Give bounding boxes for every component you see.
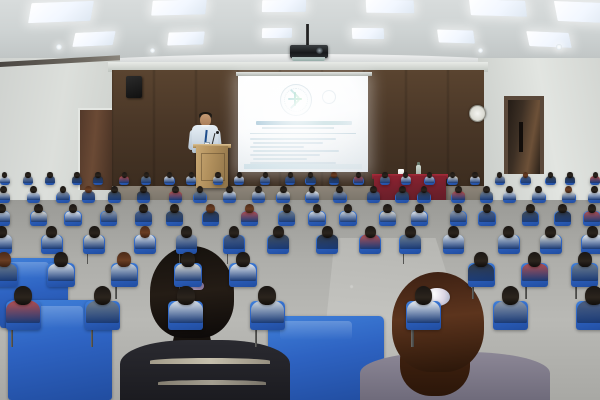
projector-lens-icon — [316, 47, 323, 54]
audience-person-head — [313, 204, 322, 213]
foreground-person-left-trim-lower — [158, 380, 266, 385]
chair-leg — [87, 254, 88, 264]
panel-light-2 — [151, 0, 207, 16]
audience-person-head — [85, 186, 92, 193]
audience-person-head — [545, 226, 556, 238]
downlight-2 — [150, 48, 155, 53]
audience-person-head — [172, 186, 179, 193]
audience-person-head — [122, 172, 127, 178]
audience-person-head — [189, 172, 194, 178]
audience-person-head — [365, 226, 376, 238]
audience-person-head — [140, 186, 147, 193]
audience-person-head — [405, 226, 416, 238]
audience-person-head — [25, 172, 30, 178]
audience-person-head — [558, 204, 567, 213]
audience-person-head — [399, 186, 406, 193]
audience-person-head — [280, 186, 287, 193]
audience-person-head — [89, 226, 100, 238]
audience-person-head — [370, 186, 377, 193]
audience-person-head — [215, 172, 220, 178]
audience-person-head — [181, 226, 192, 238]
audience-person-head — [2, 172, 7, 178]
foreground-person-left-trim-upper — [150, 358, 270, 364]
audience-person-head — [46, 226, 57, 238]
audience-person-head — [548, 172, 553, 178]
panel-light-10 — [352, 28, 385, 39]
chair-leg — [179, 254, 180, 264]
audience-person-head — [273, 226, 284, 238]
audience-person-head — [140, 226, 151, 238]
audience-person-head — [144, 172, 149, 178]
panel-light-11 — [437, 29, 475, 43]
panel-light-12 — [526, 31, 572, 48]
audience-person-head — [523, 172, 528, 178]
audience-person-head — [0, 186, 7, 193]
audience-person-head — [14, 286, 32, 305]
audience-person-head — [229, 226, 240, 238]
panel-light-9 — [262, 28, 292, 38]
audience-person-head — [0, 252, 11, 267]
downlight-1 — [56, 44, 62, 50]
audience-person-head — [181, 252, 195, 267]
audience-person-head — [356, 172, 361, 178]
audience-person-head — [503, 226, 514, 238]
audience-person-head — [263, 172, 268, 178]
audience-person-head — [474, 252, 488, 267]
audience-person-head — [587, 226, 598, 238]
audience-person-head — [502, 286, 520, 305]
chair-leg — [411, 330, 413, 346]
audience-person-head — [427, 172, 432, 178]
audience-person-head — [283, 204, 292, 213]
door-right[interactable] — [508, 100, 540, 174]
audience-person-head — [497, 172, 502, 178]
chair-leg — [227, 254, 228, 264]
audience-person-head — [54, 252, 68, 267]
audience-person-head — [245, 204, 254, 213]
audience-person-head — [382, 172, 387, 178]
loudspeaker-icon — [126, 76, 142, 98]
wall-clock-icon — [469, 105, 486, 122]
audience-person-head — [139, 204, 148, 213]
panel-light-4 — [366, 0, 415, 13]
audience-person-head — [0, 226, 7, 238]
audience-person-head — [47, 172, 52, 178]
microphone-icon — [216, 131, 219, 134]
panel-light-6 — [554, 1, 600, 23]
lecture-hall-photo: Photograph of a crowded auditorium durin… — [0, 0, 600, 400]
audience-person-head — [578, 252, 592, 267]
downlight-3 — [478, 48, 483, 53]
audience-person-head — [455, 186, 462, 193]
panel-light-1 — [28, 1, 94, 23]
audience-person-head — [403, 172, 408, 178]
audience-person-head — [331, 172, 336, 178]
audience-person-head — [322, 226, 333, 238]
audience-person-head — [567, 172, 572, 178]
audience-person-head — [236, 252, 250, 267]
audience-person-head — [593, 172, 598, 178]
chair-leg — [255, 330, 257, 346]
audience-person-head — [528, 252, 542, 267]
audience-person-head — [69, 204, 78, 213]
audience-person-head — [450, 172, 455, 178]
audience-person-head — [94, 286, 112, 305]
audience-person-head — [526, 204, 535, 213]
audience-person-head — [206, 204, 215, 213]
audience-person-head — [111, 186, 118, 193]
chair-leg — [472, 287, 474, 300]
audience-person-head — [177, 286, 195, 305]
projection-screen — [238, 76, 368, 172]
audience-person-head — [483, 186, 490, 193]
audience-person-head — [226, 186, 233, 193]
audience-person-head — [117, 252, 131, 267]
audience-person-head — [170, 204, 179, 213]
audience-person-head — [415, 286, 433, 305]
chair-leg — [115, 287, 117, 300]
audience-person-head — [506, 186, 513, 193]
downlight-4 — [556, 44, 562, 50]
audience-person-head — [344, 204, 353, 213]
audience-person-head — [308, 172, 313, 178]
chair-leg — [403, 254, 404, 264]
audience-person-head — [255, 186, 262, 193]
audience-person-head — [258, 286, 276, 305]
audience-person-head — [288, 172, 293, 178]
audience-person-head — [448, 226, 459, 238]
chair-leg — [11, 330, 13, 346]
doorway-gap — [519, 122, 523, 152]
panel-light-7 — [72, 31, 115, 47]
audience-person-head — [30, 186, 37, 193]
audience-person-head — [415, 204, 424, 213]
audience-person-head — [585, 286, 600, 305]
audience-person-head — [34, 204, 43, 213]
audience-person-head — [74, 172, 79, 178]
chair-leg — [575, 287, 577, 300]
panel-light-5 — [469, 0, 527, 17]
screen-glare — [238, 76, 368, 172]
audience-person-head — [237, 172, 242, 178]
audience-person-head — [95, 172, 100, 178]
audience-person-head — [167, 172, 172, 178]
chair-leg — [91, 330, 93, 346]
panel-light-3 — [262, 0, 306, 12]
audience-person-head — [472, 172, 477, 178]
foreground-person-left-torso — [120, 340, 290, 400]
projector-light-beam — [292, 57, 325, 61]
audience-person-head — [105, 204, 114, 213]
panel-light-8 — [167, 32, 205, 46]
chair-leg — [525, 287, 527, 300]
audience-person-head — [383, 204, 392, 213]
